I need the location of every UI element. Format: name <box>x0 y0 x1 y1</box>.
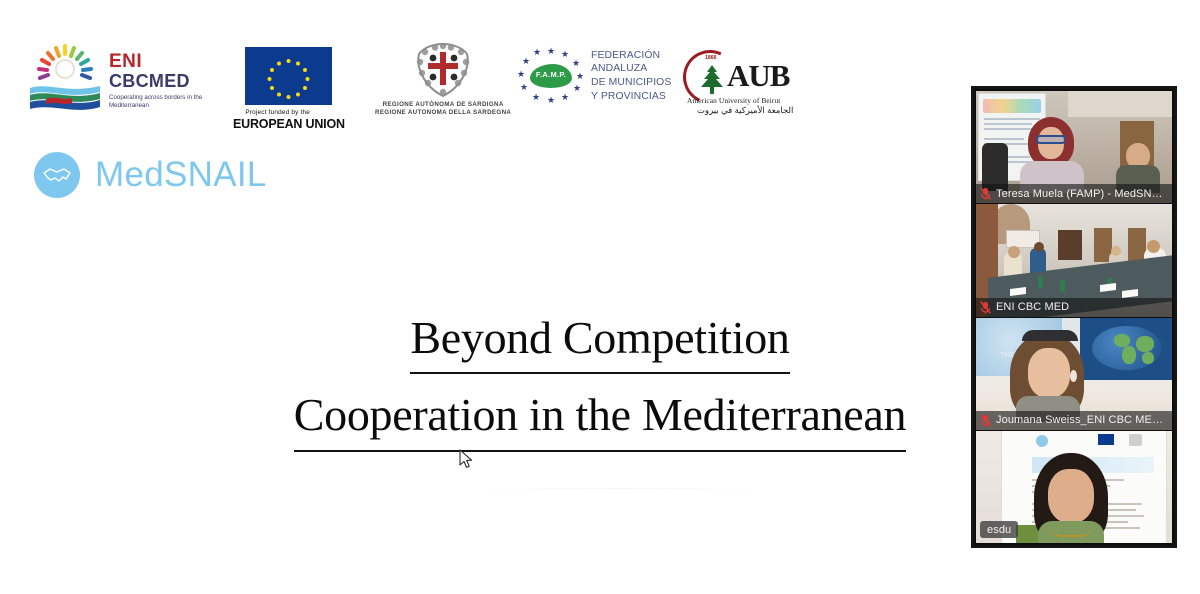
logo-medsnail: MedSNAIL <box>34 152 267 198</box>
logo-famp: ★ ★ ★ ★ ★ ★ ★ ★ ★ ★ ★ ★ F.A.M.P. FEDERAC… <box>517 48 671 104</box>
video-tile-joumana[interactable]: THE <box>976 318 1172 430</box>
tile-participant-name: Teresa Muela (FAMP) - MedSNAIL <box>996 188 1168 200</box>
famp-andalusia-shape: F.A.M.P. <box>530 64 572 88</box>
sardegna-caption-sardinian: REGIONE AUTÒNOMA DE SARDIGNA <box>383 101 504 108</box>
aub-subtitle-arabic: الجامعة الأميركية في بيروت <box>697 105 793 116</box>
tile-name-label: Teresa Muela (FAMP) - MedSNAIL <box>976 184 1172 203</box>
eni-mark-icon <box>30 42 102 120</box>
famp-mark-text: F.A.M.P. <box>530 70 572 79</box>
famp-line-4: Y PROVINCIAS <box>591 90 671 104</box>
handshake-glyph <box>43 165 71 185</box>
medsnail-wordmark: MedSNAIL <box>95 155 267 195</box>
eu-flag-icon <box>245 47 332 105</box>
tile-participant-name: Joumana Sweiss_ENI CBC MED_B... <box>996 414 1168 426</box>
arrow-pointer-icon <box>459 449 473 469</box>
slide-divider <box>470 488 770 489</box>
eni-wordmark: ENI <box>109 52 209 71</box>
tile-participant-name: esdu <box>987 524 1011 536</box>
tile-participant-name: ENI CBC MED <box>996 301 1069 313</box>
cedar-tree-icon <box>697 64 727 98</box>
handshake-icon <box>34 152 80 198</box>
logo-aub: 1866 AUB American University of Beirut ا… <box>683 44 795 116</box>
aub-subtitle: American University of Beirut <box>687 96 780 105</box>
eu-caption-large: EUROPEAN UNION <box>233 117 345 131</box>
aub-founded-year: 1866 <box>705 55 717 61</box>
title-line-2: Cooperation in the Mediterranean <box>294 382 906 451</box>
mic-muted-icon <box>980 187 991 200</box>
eu-caption-small: Project funded by the <box>245 109 332 116</box>
mic-muted-icon <box>980 414 991 427</box>
logo-european-union: Project funded by the EUROPEAN UNION <box>233 47 345 131</box>
aub-acronym: AUB <box>727 60 789 91</box>
eu-stars-icon <box>245 47 332 105</box>
famp-line-2: ANDALUZA <box>591 62 671 76</box>
logo-eni-cbcmed: ENI CBCMED Cooperating across borders in… <box>30 42 209 120</box>
screen: ENI CBCMED Cooperating across borders in… <box>0 0 1200 594</box>
video-tile-esdu[interactable]: esdu <box>976 431 1172 543</box>
tile-name-label: ENI CBC MED <box>976 298 1172 317</box>
eu-caption-small-text: Project funded by the <box>245 109 310 116</box>
video-tile-eni-cbc-med[interactable]: ENI CBC MED <box>976 204 1172 316</box>
wave-mark-icon <box>30 82 100 116</box>
sardegna-caption-italian: REGIONE AUTONOMA DELLA SARDEGNA <box>375 109 511 116</box>
cbcmed-wordmark: CBCMED <box>109 72 209 90</box>
famp-line-1: FEDERACIÓN <box>591 49 671 63</box>
logo-regione-sardegna: REGIONE AUTÒNOMA DE SARDIGNA REGIONE AUT… <box>375 42 511 116</box>
title-line-1: Beyond Competition <box>410 305 789 374</box>
sun-rays-icon <box>36 42 94 84</box>
eni-tagline: Cooperating across borders in the Medite… <box>109 94 209 111</box>
famp-text-block: FEDERACIÓN ANDALUZA DE MUNICIPIOS Y PROV… <box>591 49 671 104</box>
famp-line-3: DE MUNICIPIOS <box>591 76 671 90</box>
mic-muted-icon <box>980 301 991 314</box>
tile-name-label: esdu <box>980 521 1018 538</box>
video-tile-teresa[interactable]: Teresa Muela (FAMP) - MedSNAIL <box>976 91 1172 203</box>
video-filmstrip[interactable]: Teresa Muela (FAMP) - MedSNAIL <box>971 86 1177 548</box>
sardinia-shield-icon <box>413 42 473 98</box>
famp-mark-icon: ★ ★ ★ ★ ★ ★ ★ ★ ★ ★ ★ ★ F.A.M.P. <box>517 48 583 104</box>
tile-name-label: Joumana Sweiss_ENI CBC MED_B... <box>976 411 1172 430</box>
